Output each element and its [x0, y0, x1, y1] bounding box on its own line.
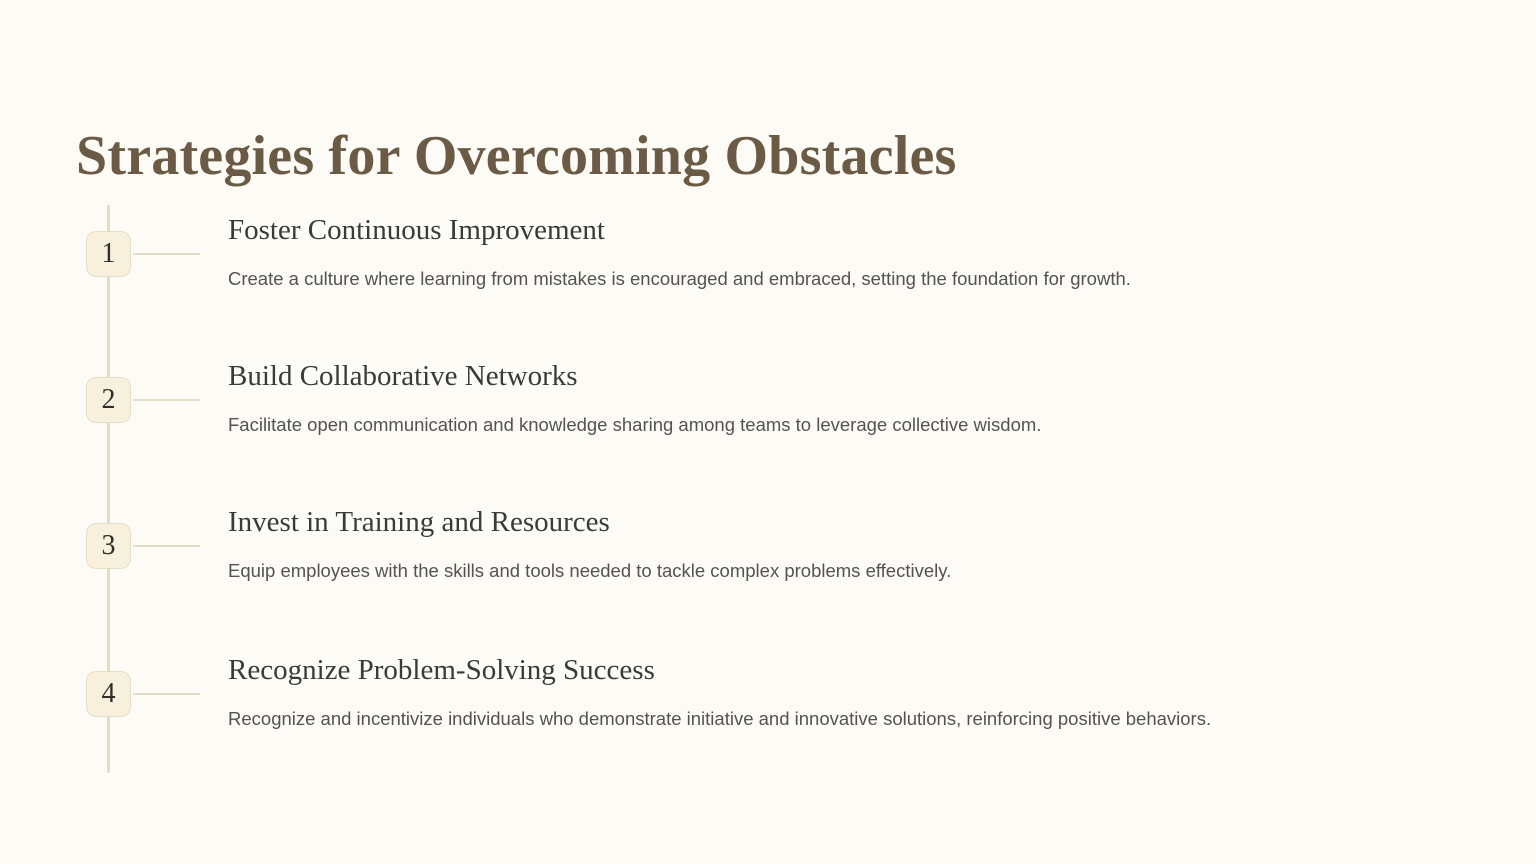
timeline-connector	[133, 399, 200, 401]
timeline-item-description: Facilitate open communication and knowle…	[228, 413, 1458, 438]
timeline-item-heading: Recognize Problem-Solving Success	[228, 653, 1458, 687]
timeline-item-content: Build Collaborative Networks Facilitate …	[228, 359, 1458, 438]
timeline-item-content: Recognize Problem-Solving Success Recogn…	[228, 653, 1458, 732]
step-number-badge[interactable]: 3	[86, 523, 131, 569]
timeline-item-description: Equip employees with the skills and tool…	[228, 559, 1458, 584]
timeline-item-heading: Build Collaborative Networks	[228, 359, 1458, 393]
timeline-item-description: Recognize and incentivize individuals wh…	[228, 707, 1458, 732]
timeline-item-heading: Invest in Training and Resources	[228, 505, 1458, 539]
timeline-item-content: Invest in Training and Resources Equip e…	[228, 505, 1458, 584]
step-number-badge[interactable]: 4	[86, 671, 131, 717]
timeline-item-description: Create a culture where learning from mis…	[228, 267, 1458, 292]
slide-canvas: Strategies for Overcoming Obstacles 1 Fo…	[0, 0, 1536, 864]
timeline: 1 Foster Continuous Improvement Create a…	[0, 0, 1536, 864]
timeline-item-heading: Foster Continuous Improvement	[228, 213, 1458, 247]
step-number-badge[interactable]: 2	[86, 377, 131, 423]
step-number-badge[interactable]: 1	[86, 231, 131, 277]
timeline-connector	[133, 253, 200, 255]
timeline-connector	[133, 545, 200, 547]
timeline-item-content: Foster Continuous Improvement Create a c…	[228, 213, 1458, 292]
timeline-connector	[133, 693, 200, 695]
